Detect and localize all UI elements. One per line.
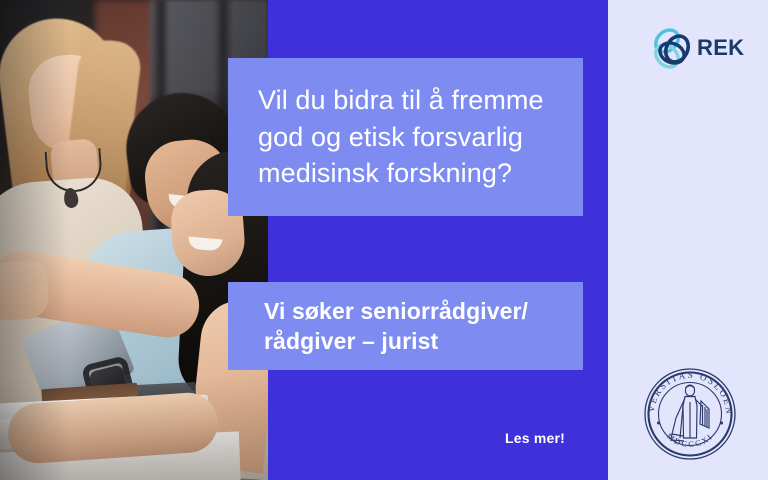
job-title-text: Vi søker seniorrådgiver/ rådgiver – juri… xyxy=(264,296,583,357)
interlocking-rings-icon xyxy=(650,25,694,71)
figure-with-lyre-icon xyxy=(671,385,709,441)
headline-text: Vil du bidra til å fremme god og etisk f… xyxy=(258,82,583,193)
rek-logo[interactable]: REK xyxy=(650,24,742,72)
uio-seal: UNIVERSITAS OSLOENSIS MDCCCXI xyxy=(638,362,742,466)
headline-panel: Vil du bidra til å fremme god og etisk f… xyxy=(228,58,583,216)
job-title-panel: Vi søker seniorrådgiver/ rådgiver – juri… xyxy=(228,282,583,370)
read-more-link[interactable]: Les mer! xyxy=(505,430,565,446)
recruitment-banner: Vil du bidra til å fremme god og etisk f… xyxy=(0,0,768,480)
rek-wordmark: REK xyxy=(697,37,744,59)
